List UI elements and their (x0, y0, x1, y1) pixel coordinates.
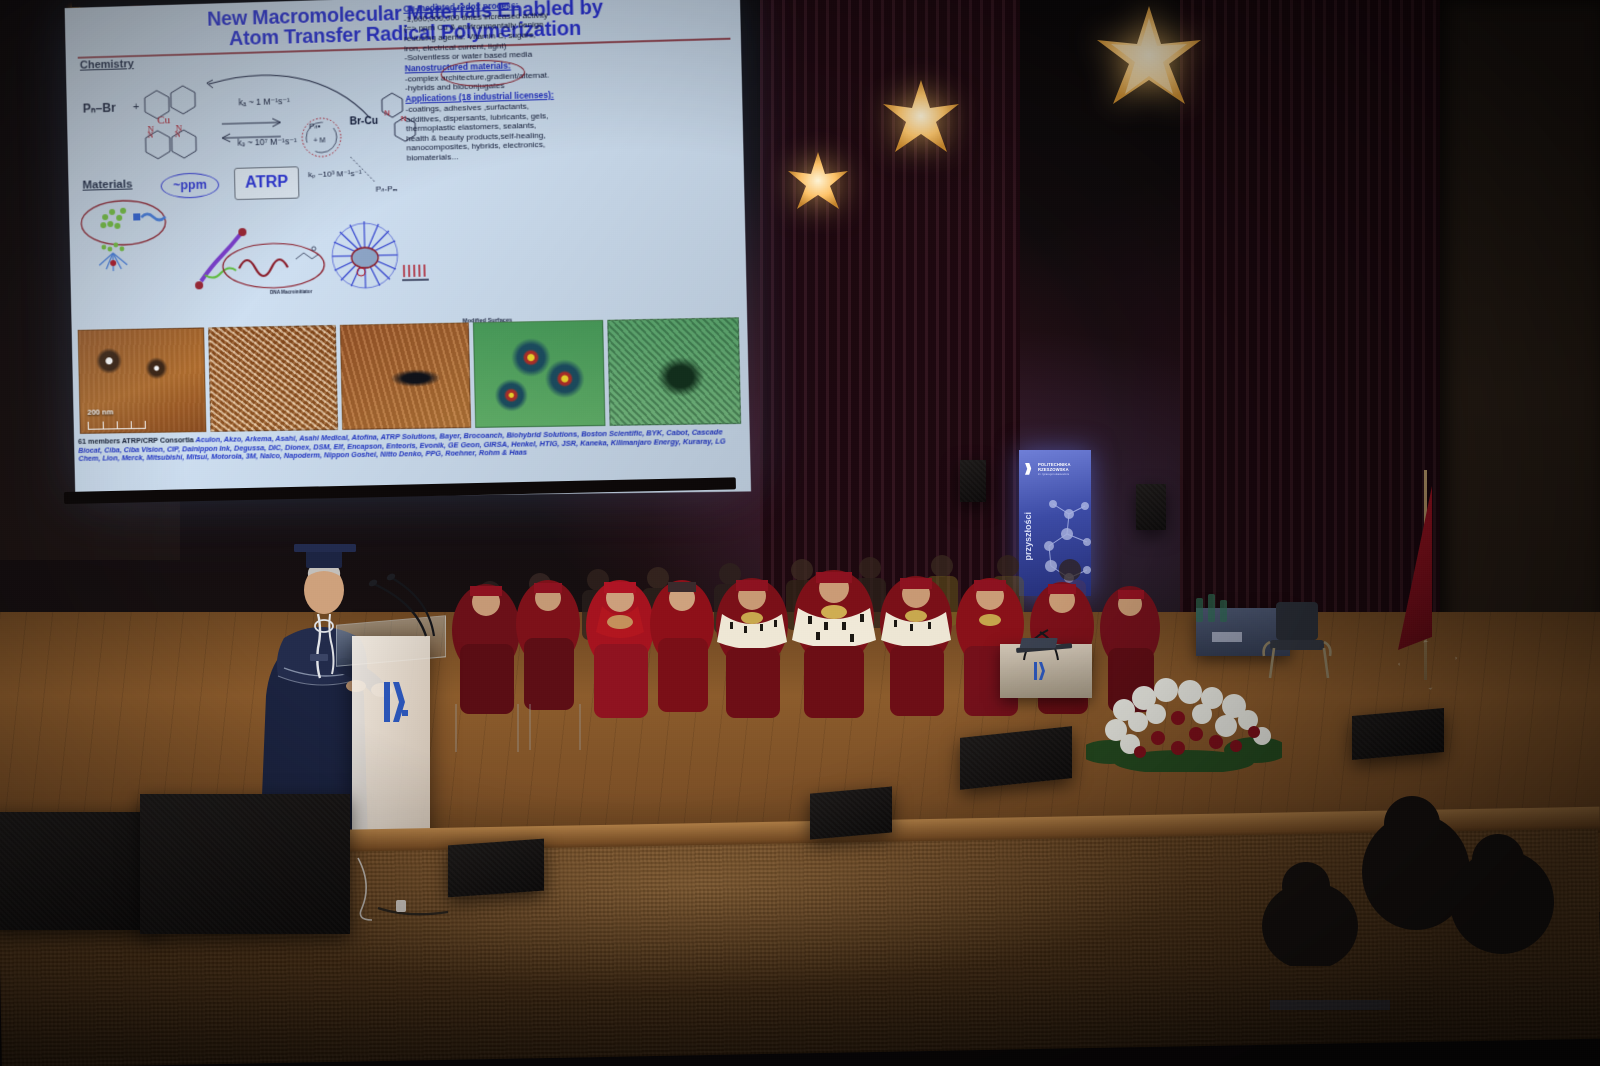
stage-monitor (810, 786, 892, 839)
consortia-list: Aculon, Akzo, Arkema, Asahi, Asahi Medic… (78, 428, 726, 463)
water-bottles (1186, 584, 1266, 644)
equation-plus: + (133, 101, 140, 113)
ceremony-photograph: New Macromolecular Materials Enabled by … (0, 0, 1600, 1066)
equation-kd: kₔ ~ 10⁷ M⁻¹s⁻¹ (237, 136, 297, 149)
section-label-materials: Materials (82, 178, 132, 191)
star-lantern (785, 150, 851, 221)
svg-text:Cu: Cu (157, 114, 171, 126)
table-microphones (996, 618, 1096, 664)
svg-text:N: N (384, 108, 390, 117)
micrograph-surface (340, 322, 471, 429)
banner-institution-line2: RZESZOWSKA (1038, 467, 1071, 472)
projection-screen: New Macromolecular Materials Enabled by … (65, 0, 751, 500)
audience-row-right (1240, 776, 1560, 966)
stage-monitor (1352, 708, 1444, 760)
banner-subtitle: im. Ignacego Łukasiewicza (1038, 473, 1071, 476)
equation-radical: Pₙ• (309, 121, 321, 130)
consortia-members: 61 members ATRP/CRP Consortia Aculon, Ak… (78, 428, 744, 464)
podium-microphones (330, 570, 480, 680)
right-wall (1440, 0, 1600, 660)
micrograph-fluorescence (473, 320, 606, 428)
audience-seat-back (1270, 1000, 1390, 1010)
flower-arrangement (1086, 664, 1282, 772)
equation-kp: kₚ ~10³ M⁻¹s⁻¹ (308, 168, 362, 178)
svg-text:N: N (175, 130, 181, 139)
micrograph-green (607, 317, 741, 426)
dna-caption: DNA Macroinitiator (270, 289, 312, 295)
line-array-speaker (1136, 484, 1166, 530)
star-lantern (1093, 4, 1205, 119)
micrograph-row: 200 nm (78, 317, 741, 434)
equation-reactant: Pₙ–Br (83, 100, 116, 115)
materials-schematics (79, 189, 415, 302)
banner-logo: POLITECHNIKA RZESZOWSKA im. Ignacego Łuk… (1025, 462, 1071, 476)
modified-surface-icon (400, 260, 442, 289)
micrograph-fibrous (208, 325, 338, 432)
lectern-university-logo-icon (378, 676, 414, 728)
stage-curtain-right (1180, 0, 1480, 640)
svg-text:N: N (147, 130, 153, 139)
star-lantern (880, 78, 962, 165)
equation-ka: kₐ ~ 1 M⁻¹s⁻¹ (238, 95, 290, 107)
university-logo-icon (1025, 463, 1035, 475)
scale-bar-label: 200 nm (87, 407, 113, 416)
equation-monomer: + M (313, 137, 325, 144)
line-array-speaker (960, 460, 986, 502)
presentation-slide: New Macromolecular Materials Enabled by … (65, 0, 751, 500)
scale-bar-ticks (88, 421, 146, 430)
micrograph-caption: Modified Surfaces (463, 318, 513, 325)
micrograph-afm-particles: 200 nm (78, 327, 207, 433)
equation-product: Br-Cu (350, 115, 379, 127)
